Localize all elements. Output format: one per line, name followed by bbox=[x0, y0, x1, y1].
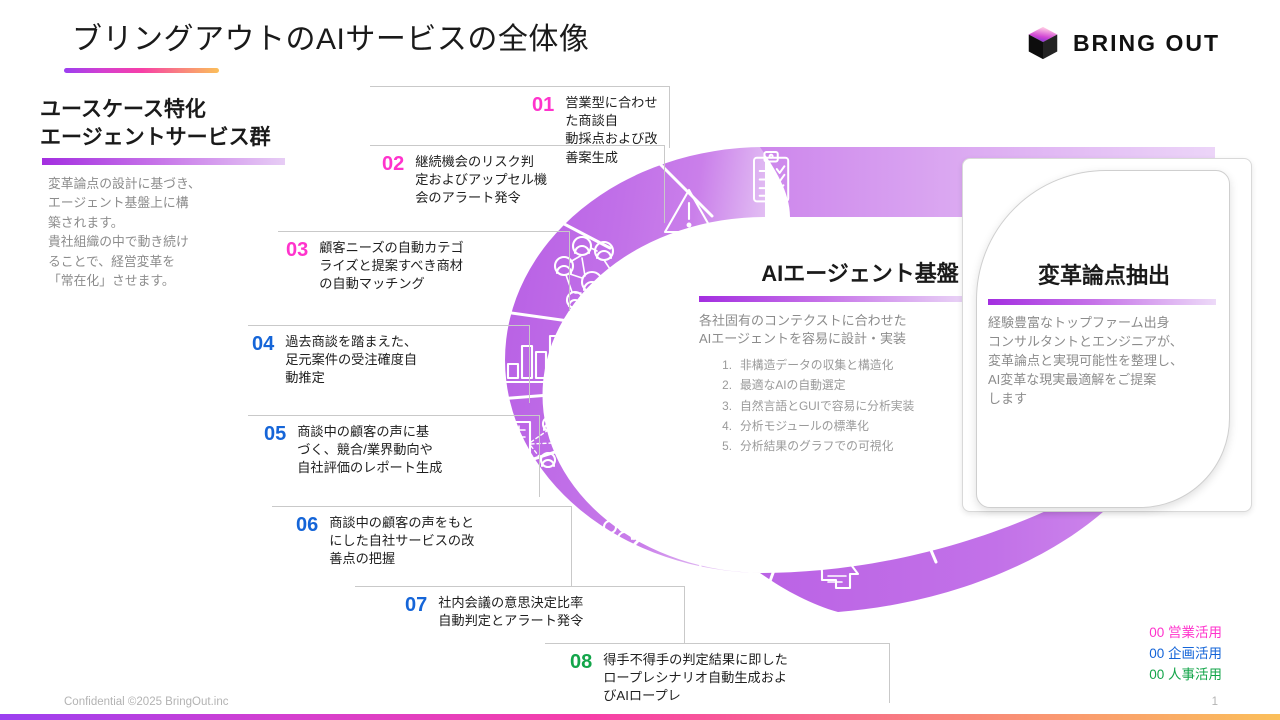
center-list-item-number: 3. bbox=[716, 396, 732, 416]
item-text: 過去商談を踏まえた、 足元案件の受注確度自 動推定 bbox=[285, 333, 417, 388]
item-number: 04 bbox=[252, 333, 274, 357]
slide: ブリングアウトのAIサービスの全体像 BRING OUT bbox=[0, 0, 1280, 720]
item-text: 社内会議の意思決定比率 自動判定とアラート発令 bbox=[438, 594, 583, 630]
item-number: 03 bbox=[286, 239, 308, 263]
item-text: 継続機会のリスク判 定およびアップセル機 会のアラート発令 bbox=[415, 153, 547, 208]
footer-gradient-bar bbox=[0, 714, 1280, 720]
right-panel-body: 経験豊富なトップファーム出身 コンサルタントとエンジニアが、 変革論点と実現可能… bbox=[988, 313, 1220, 409]
item-number: 06 bbox=[296, 514, 318, 538]
item-number: 07 bbox=[405, 594, 427, 618]
item-text: 商談中の顧客の声をもと にした自社サービスの改 善点の把握 bbox=[329, 514, 474, 569]
center-list-item-number: 2. bbox=[716, 375, 732, 395]
legend-item-sales: 00 営業活用 bbox=[1149, 623, 1222, 644]
item-number: 05 bbox=[264, 423, 286, 447]
center-list-item-number: 1. bbox=[716, 355, 732, 375]
left-heading: ユースケース特化 エージェントサービス群 bbox=[40, 96, 340, 151]
center-panel-lead: 各社固有のコンテクストに合わせた AIエージェントを容易に設計・実装 bbox=[699, 312, 989, 349]
page-number: 1 bbox=[1212, 696, 1218, 708]
center-list-item-number: 5. bbox=[716, 436, 732, 456]
center-list-item-text: 最適なAIの自動選定 bbox=[740, 375, 846, 395]
center-list-item-text: 非構造データの収集と構造化 bbox=[740, 355, 893, 375]
item-text: 得手不得手の判定結果に即した ロープレシナリオ自動生成およ びAIロープレ bbox=[603, 651, 788, 706]
center-list-item-text: 分析結果のグラフでの可視化 bbox=[740, 436, 893, 456]
center-list-item-text: 自然言語とGUIで容易に分析実装 bbox=[740, 396, 914, 416]
left-body-text: 変革論点の設計に基づき、 エージェント基盤上に構 築されます。 貴社組織の中で動… bbox=[48, 174, 258, 291]
item-text: 営業型に合わせた商談自 動採点および改善案生成 bbox=[565, 94, 670, 167]
chat-group-icon bbox=[601, 487, 647, 539]
center-panel-rule bbox=[699, 296, 964, 302]
item-number: 01 bbox=[532, 94, 554, 118]
item-number: 08 bbox=[570, 651, 592, 675]
right-panel-title: 変革論点抽出 bbox=[986, 258, 1222, 290]
legend-item-hr: 00 人事活用 bbox=[1149, 665, 1222, 686]
center-list-item-text: 分析モジュールの標準化 bbox=[740, 416, 869, 436]
item-text: 顧客ニーズの自動カテゴ ライズと提案すべき商材 の自動マッチング bbox=[319, 239, 463, 294]
item-number: 02 bbox=[382, 153, 404, 177]
center-list-item-number: 4. bbox=[716, 416, 732, 436]
category-legend: 00 営業活用00 企画活用00 人事活用 bbox=[1149, 623, 1222, 686]
legend-item-plan: 00 企画活用 bbox=[1149, 644, 1222, 665]
right-panel-rule bbox=[988, 299, 1216, 305]
left-heading-rule bbox=[42, 158, 285, 165]
confidential-notice: Confidential ©2025 BringOut.inc bbox=[64, 696, 228, 708]
item-text: 商談中の顧客の声に基 づく、競合/業界動向や 自社評価のレポート生成 bbox=[297, 423, 442, 478]
